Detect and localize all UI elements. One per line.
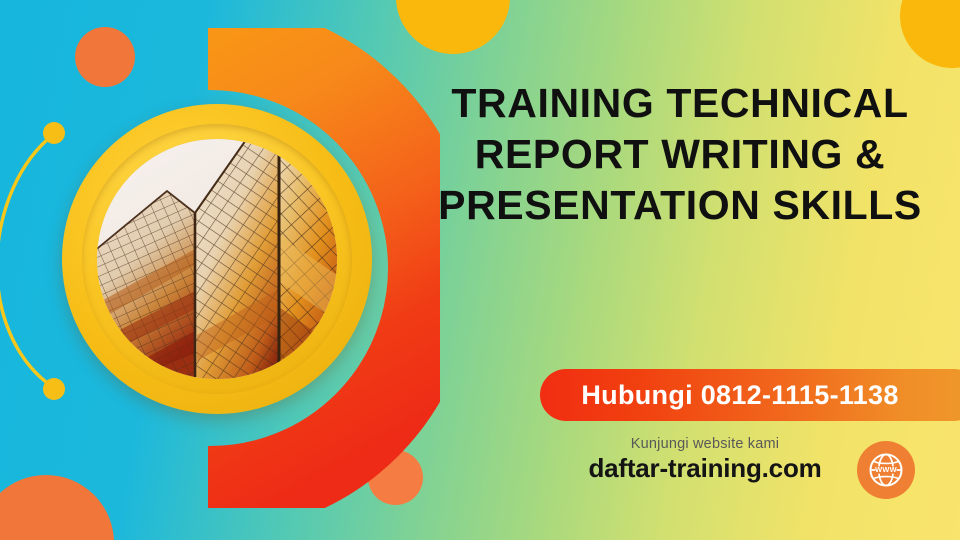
globe-www-icon: WWW (857, 441, 915, 499)
decor-circle-top-right (900, 0, 960, 68)
contact-phone-banner[interactable]: Hubungi 0812-1115-1138 (540, 369, 960, 421)
contact-phone-label: Hubungi 0812-1115-1138 (540, 369, 940, 421)
promo-poster: TRAINING TECHNICAL REPORT WRITING & PRES… (0, 0, 960, 540)
website-caption: Kunjungi website kami (555, 437, 855, 453)
decor-circle-bottom-left (0, 475, 114, 540)
globe-icon-graphic: WWW (866, 450, 906, 490)
website-block: Kunjungi website kami daftar-training.co… (555, 437, 855, 483)
website-domain[interactable]: daftar-training.com (555, 454, 855, 483)
page-title: TRAINING TECHNICAL REPORT WRITING & PRES… (430, 78, 930, 230)
glass-office-building-photo (97, 139, 337, 379)
decor-circle-top-left (75, 27, 135, 87)
svg-text:WWW: WWW (875, 465, 897, 474)
